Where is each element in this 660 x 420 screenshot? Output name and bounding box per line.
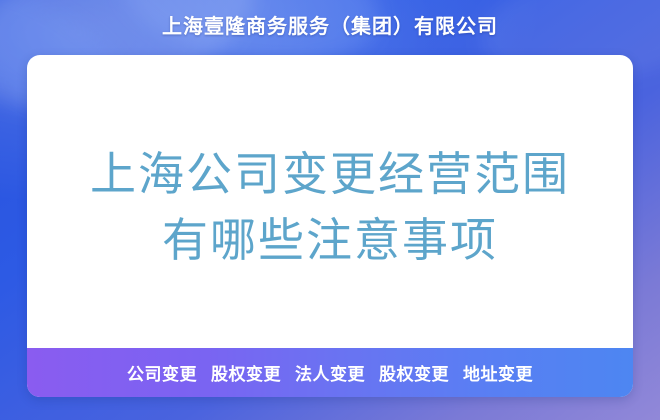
- headline: 上海公司变更经营范围 有哪些注意事项: [27, 141, 633, 273]
- poster-canvas: 上海壹隆商务服务（集团）有限公司 上海公司变更经营范围 有哪些注意事项 公司变更…: [0, 0, 660, 420]
- content-card: 上海公司变更经营范围 有哪些注意事项 公司变更 股权变更 法人变更 股权变更 地…: [27, 55, 633, 397]
- tag-address-change[interactable]: 地址变更: [463, 360, 533, 385]
- tag-equity-change-2[interactable]: 股权变更: [379, 360, 449, 385]
- headline-line-2: 有哪些注意事项: [27, 207, 633, 273]
- company-name-header: 上海壹隆商务服务（集团）有限公司: [0, 14, 660, 40]
- tag-legal-person-change[interactable]: 法人变更: [295, 360, 365, 385]
- tag-company-change[interactable]: 公司变更: [127, 360, 197, 385]
- headline-line-1: 上海公司变更经营范围: [27, 141, 633, 207]
- tag-list: 公司变更 股权变更 法人变更 股权变更 地址变更: [127, 360, 533, 385]
- card-body: 上海公司变更经营范围 有哪些注意事项: [27, 55, 633, 348]
- tag-bar: 公司变更 股权变更 法人变更 股权变更 地址变更: [27, 348, 633, 397]
- tag-equity-change[interactable]: 股权变更: [211, 360, 281, 385]
